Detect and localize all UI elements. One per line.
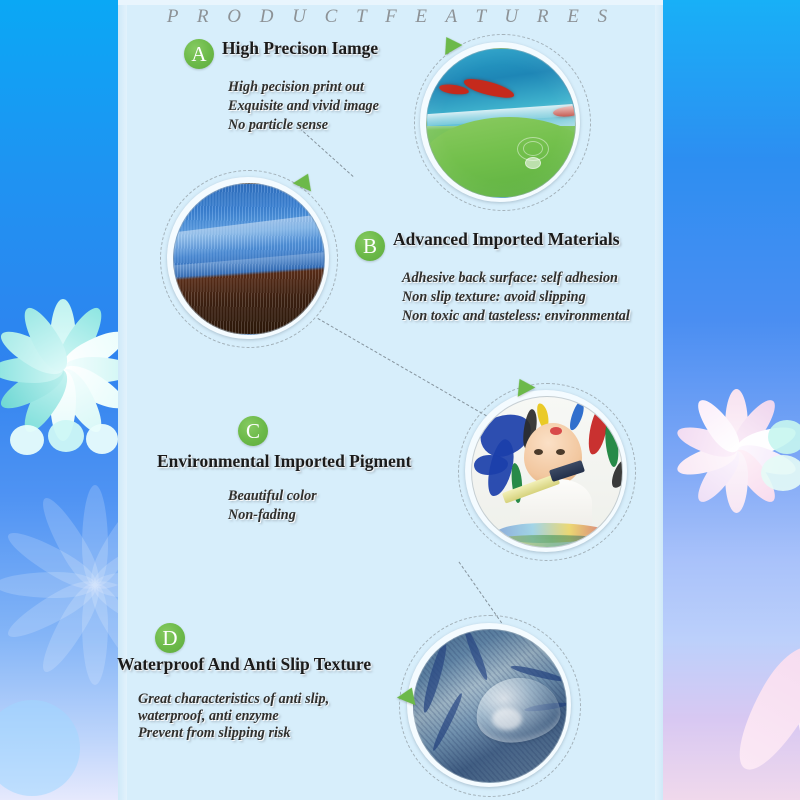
baby-painting-photo[interactable] — [465, 390, 627, 552]
koi-pond-image — [426, 48, 576, 198]
section-title-a: High Precison Iamge — [222, 38, 378, 59]
section-body-c-line-2: Non-fading — [228, 506, 296, 525]
baby-painting-image — [471, 396, 623, 548]
section-badge-b: B — [355, 231, 385, 261]
blue-fabric-roll-photo[interactable] — [167, 177, 329, 339]
left-decorative-band — [0, 0, 118, 800]
right-decorative-band — [663, 0, 800, 800]
section-body-a-line-3: No particle sense — [228, 116, 328, 135]
decor-blob — [10, 425, 44, 455]
waterproof-texture-photo[interactable] — [407, 623, 571, 787]
section-badge-d: D — [155, 623, 185, 653]
decor-blob — [48, 420, 84, 452]
section-badge-c: C — [238, 416, 268, 446]
section-title-d: Waterproof And Anti Slip Texture — [117, 654, 371, 675]
decor-blob — [761, 455, 800, 491]
panel-top-edge — [118, 0, 663, 5]
page-title: P R O D U C T F E A T U R E S — [118, 6, 663, 28]
section-body-a-line-1: High pecision print out — [228, 78, 364, 97]
koi-pond-photo[interactable] — [420, 42, 580, 202]
panel-left-edge — [118, 0, 127, 800]
infographic-canvas: P R O D U C T F E A T U R E S A High Pre… — [0, 0, 800, 800]
section-body-c-line-1: Beautiful color — [228, 487, 317, 506]
section-title-c: Environmental Imported Pigment — [157, 451, 411, 472]
decor-blob — [86, 424, 118, 454]
section-body-d-line-3: Prevent from slipping risk — [138, 724, 291, 743]
blue-fabric-roll-image — [173, 183, 325, 335]
blue-petal-flower — [723, 0, 800, 210]
waterproof-texture-image — [413, 629, 567, 783]
section-title-b: Advanced Imported Materials — [393, 229, 620, 250]
section-body-b-line-1: Adhesive back surface: self adhesion — [402, 269, 618, 288]
section-body-b-line-3: Non toxic and tasteless: environmental — [402, 307, 630, 326]
decor-blob — [768, 420, 800, 454]
section-badge-a: A — [184, 39, 214, 69]
faint-white-flower — [0, 480, 118, 690]
section-body-b-line-2: Non slip texture: avoid slipping — [402, 288, 586, 307]
panel-right-edge — [655, 0, 663, 800]
section-body-a-line-2: Exquisite and vivid image — [228, 97, 379, 116]
decor-blob — [0, 700, 80, 796]
pink-lavender-flower — [663, 505, 800, 800]
